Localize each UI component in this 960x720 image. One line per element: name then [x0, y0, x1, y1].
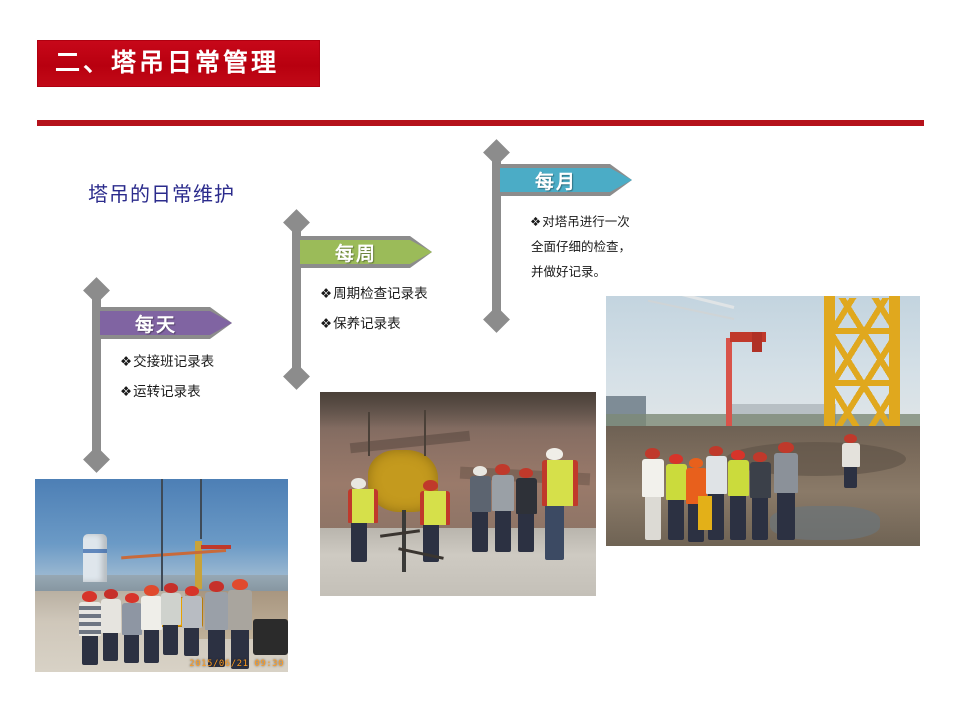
bullet-mark-icon: ❖ — [320, 286, 332, 301]
bullet-mark-icon: ❖ — [530, 215, 541, 229]
red-helmet-icon — [144, 585, 159, 596]
photo-worker — [182, 586, 202, 656]
photo-cable-left — [161, 479, 163, 591]
worker-legs — [518, 514, 534, 552]
photo-weekly[interactable] — [320, 392, 596, 596]
photo-yellow-toolbox — [698, 496, 712, 530]
hivis-vest — [666, 464, 687, 500]
red-helmet-icon — [232, 579, 248, 590]
worker-torso — [122, 603, 142, 635]
worker-torso — [706, 456, 727, 494]
red-helmet-icon — [82, 591, 97, 602]
worker-legs — [124, 635, 139, 663]
worker-legs — [495, 511, 511, 552]
red-helmet-icon — [495, 464, 510, 475]
worker-legs — [844, 467, 857, 488]
worker-torso — [141, 596, 162, 630]
hivis-vest — [542, 460, 578, 506]
bullet-text: 交接班记录表 — [133, 354, 214, 369]
signpost-weekly: 每周 ❖周期检查记录表 ❖保养记录表 — [292, 222, 522, 377]
white-helmet-icon — [546, 448, 563, 460]
photo-worker — [79, 591, 101, 665]
list-item: ❖交接班记录表 — [120, 347, 214, 377]
red-helmet-icon — [645, 448, 660, 459]
photo-panel-rod — [424, 410, 426, 456]
worker-legs — [777, 493, 795, 540]
worker-legs — [645, 497, 661, 540]
worker-legs — [163, 625, 178, 655]
hivis-vest — [420, 491, 450, 525]
photo-worker-on-mast — [842, 434, 860, 488]
worker-legs — [351, 523, 367, 562]
bullet-mark-icon: ❖ — [120, 354, 132, 369]
flag-label-weekly: 每周 — [296, 236, 432, 268]
photo-timestamp: 2015/06/21 09:30 — [189, 659, 284, 669]
page-title: 二、塔吊日常管理 — [37, 51, 279, 76]
hivis-vest — [348, 489, 378, 523]
photo-dark-machinery — [253, 619, 288, 655]
orange-helmet-icon — [689, 458, 703, 468]
bullet-list-daily: ❖交接班记录表 ❖运转记录表 — [120, 347, 214, 407]
worker-legs — [545, 506, 564, 560]
flag-daily[interactable]: 每天 — [96, 307, 232, 339]
red-helmet-icon — [709, 446, 723, 456]
list-item: ❖对塔吊进行一次 — [530, 210, 631, 235]
photo-worker — [141, 585, 162, 663]
bullet-list-monthly: ❖对塔吊进行一次 全面仔细的检查， 并做好记录。 — [530, 210, 631, 285]
list-item: ❖保养记录表 — [320, 309, 428, 339]
photo-worker-hivis — [542, 448, 568, 560]
worker-legs — [668, 500, 684, 540]
photo-worker — [122, 593, 142, 663]
photo-worker — [750, 452, 771, 540]
photo-panel-rod — [368, 412, 370, 456]
pole-cap-top-icon — [83, 277, 110, 304]
bullet-text: 周期检查记录表 — [333, 286, 428, 301]
photo-water-tower-band — [83, 549, 107, 553]
worker-torso — [161, 593, 181, 625]
hivis-vest — [728, 460, 749, 496]
worker-legs — [184, 628, 199, 656]
worker-torso — [205, 592, 228, 630]
white-helmet-icon — [473, 466, 487, 476]
photo-crane-counter-jib — [201, 545, 231, 549]
flag-label-monthly: 每月 — [496, 164, 632, 196]
worker-torso — [182, 596, 202, 628]
photo-rock-shadow — [320, 392, 596, 428]
photo-worker — [642, 448, 664, 540]
red-helmet-icon — [209, 581, 224, 592]
photo-worker-hivis — [728, 450, 749, 540]
list-item: 并做好记录。 — [530, 260, 631, 285]
worker-torso — [516, 478, 537, 514]
flag-weekly[interactable]: 每周 — [296, 236, 432, 268]
red-helmet-icon — [731, 450, 745, 460]
red-helmet-icon — [519, 468, 533, 478]
flag-label-daily: 每天 — [96, 307, 232, 339]
worker-torso — [79, 602, 101, 636]
worker-torso — [101, 599, 121, 633]
red-helmet-icon — [125, 593, 139, 603]
worker-legs — [103, 633, 118, 661]
photo-panel-stand — [402, 510, 406, 572]
red-helmet-icon — [423, 480, 438, 491]
photo-daily[interactable]: 2015/06/21 09:30 — [35, 479, 288, 672]
section-subtitle: 塔吊的日常维护 — [88, 178, 235, 207]
pole-cap-top-icon — [483, 139, 510, 166]
photo-worker — [161, 583, 181, 655]
white-helmet-icon — [351, 478, 366, 489]
red-helmet-icon — [164, 583, 178, 593]
worker-torso — [228, 590, 252, 630]
worker-torso — [774, 453, 798, 493]
bullet-text: 全面仔细的检查， — [531, 240, 631, 254]
photo-worker — [205, 581, 228, 667]
photo-worker — [470, 466, 491, 552]
list-item: ❖周期检查记录表 — [320, 279, 428, 309]
red-helmet-icon — [104, 589, 118, 599]
worker-legs — [730, 496, 746, 540]
pole-cap-top-icon — [283, 209, 310, 236]
photo-worker — [774, 442, 798, 540]
pole-cap-bottom-icon — [83, 446, 110, 473]
title-divider-rule — [37, 120, 924, 126]
bullet-mark-icon: ❖ — [120, 384, 132, 399]
bullet-text: 对塔吊进行一次 — [542, 215, 630, 229]
photo-bg-crane-counterweight — [752, 332, 762, 352]
worker-legs — [144, 630, 159, 663]
worker-torso — [642, 459, 664, 497]
photo-monthly[interactable] — [606, 296, 920, 546]
photo-cable-right — [200, 479, 202, 539]
bullet-text: 保养记录表 — [333, 316, 401, 331]
bullet-text: 运转记录表 — [133, 384, 201, 399]
photo-worker-hivis — [348, 478, 370, 562]
photo-worker — [228, 579, 252, 669]
photo-worker-hivis — [420, 480, 442, 562]
red-helmet-icon — [844, 434, 857, 443]
red-helmet-icon — [778, 442, 794, 453]
photo-water-tower — [83, 534, 107, 582]
list-item: ❖运转记录表 — [120, 377, 214, 407]
photo-worker — [492, 464, 514, 552]
red-helmet-icon — [185, 586, 199, 596]
worker-legs — [752, 498, 768, 540]
bullet-list-weekly: ❖周期检查记录表 ❖保养记录表 — [320, 279, 428, 339]
flag-monthly[interactable]: 每月 — [496, 164, 632, 196]
worker-legs — [82, 636, 98, 665]
list-item: 全面仔细的检查， — [530, 235, 631, 260]
red-helmet-icon — [753, 452, 767, 462]
worker-legs — [472, 512, 488, 552]
signpost-monthly: 每月 ❖对塔吊进行一次 全面仔细的检查， 并做好记录。 — [492, 152, 732, 320]
page-title-banner: 二、塔吊日常管理 — [37, 40, 320, 87]
bullet-text: 并做好记录。 — [531, 265, 606, 279]
photo-worker-hivis — [666, 454, 687, 540]
worker-torso — [470, 476, 491, 512]
worker-torso — [492, 475, 514, 511]
bullet-mark-icon: ❖ — [320, 316, 332, 331]
photo-worker — [101, 589, 121, 661]
worker-torso — [750, 462, 771, 498]
photo-worker — [516, 468, 537, 552]
red-helmet-icon — [669, 454, 683, 464]
worker-torso — [842, 443, 860, 467]
